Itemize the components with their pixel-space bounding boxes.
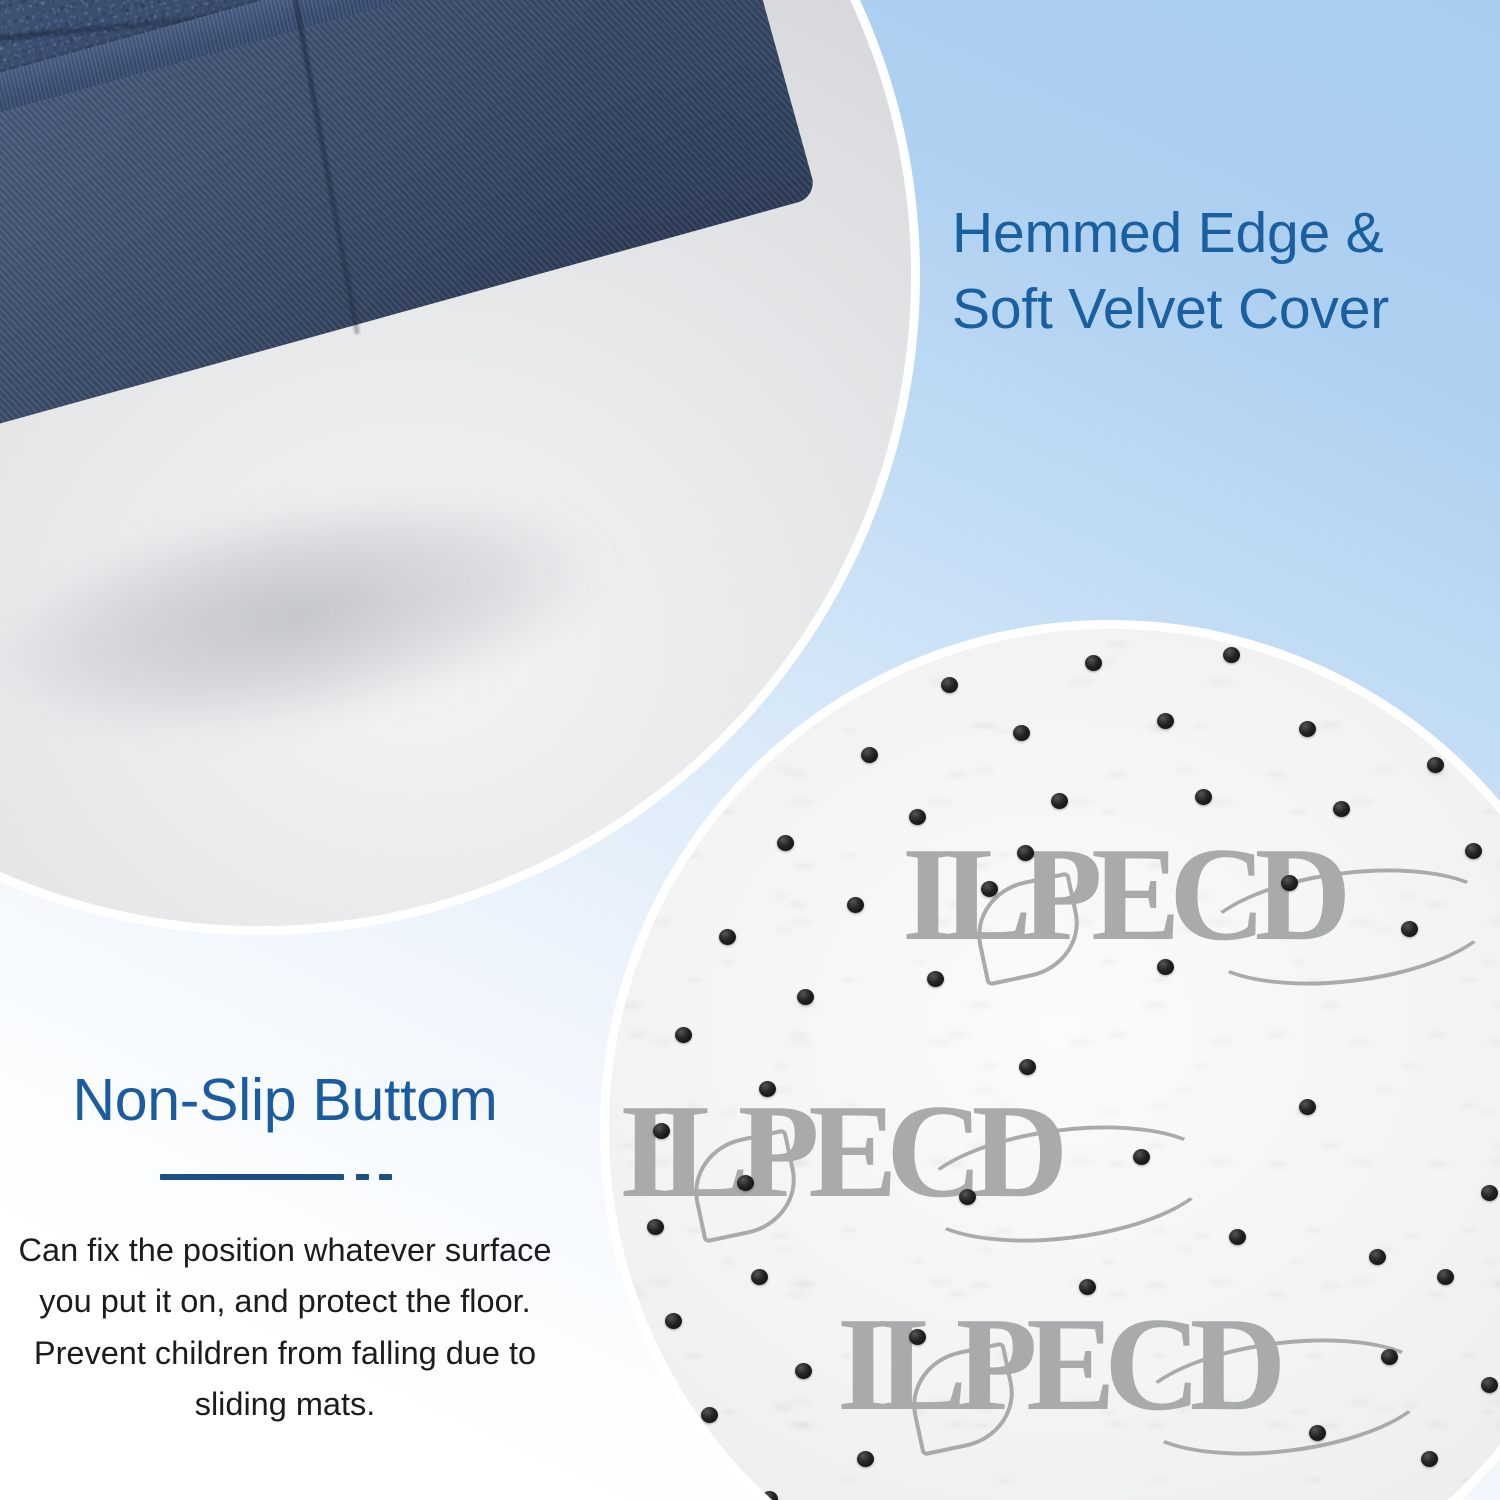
mat-grip-dot xyxy=(1051,793,1068,809)
mat-grip-dot xyxy=(1299,1099,1316,1115)
mat-grip-dot xyxy=(647,1219,664,1235)
mat-grip-dot xyxy=(1381,1349,1398,1365)
mat-grip-dot xyxy=(861,747,878,763)
mat-grip-dot xyxy=(1465,843,1482,859)
feature-title-non-slip: Non-Slip Buttom xyxy=(0,1068,570,1133)
feature-heading-velvet-line2: Soft Velvet Cover xyxy=(952,272,1492,348)
mat-grip-dot xyxy=(847,897,864,913)
mat-grip-dot xyxy=(1157,713,1174,729)
mat-grip-dot xyxy=(1427,757,1444,773)
title-divider xyxy=(160,1173,410,1181)
mat-grip-dot xyxy=(909,809,926,825)
mat-grip-dot xyxy=(761,1491,778,1500)
mat-grip-dot xyxy=(1085,655,1102,671)
feature-block-non-slip: Non-Slip Buttom Can fix the position wha… xyxy=(0,1068,570,1430)
mat-grip-dot xyxy=(1401,921,1418,937)
feature-heading-velvet: Hemmed Edge & Soft Velvet Cover xyxy=(952,196,1492,348)
mat-grip-dot xyxy=(1019,1059,1036,1075)
mat-grip-dot xyxy=(653,1123,670,1139)
divider-bar xyxy=(160,1174,344,1180)
mat-grip-dot xyxy=(1437,1269,1454,1285)
photo-non-slip-mat: ILPECD ILPECD ILPECD xyxy=(600,620,1500,1500)
mat-grip-dot xyxy=(1133,1149,1150,1165)
mat-grip-dot xyxy=(927,971,944,987)
mat-grip-dot xyxy=(1369,663,1386,679)
mat-grip-dot xyxy=(1299,721,1316,737)
mat-grip-dot xyxy=(1229,1229,1246,1245)
product-feature-poster: ILPECD ILPECD ILPECD Hemmed Edge & Soft … xyxy=(0,0,1500,1500)
mat-grip-dot xyxy=(759,1081,776,1097)
mat-grip-dot xyxy=(719,929,736,945)
mat-grip-dot xyxy=(701,1407,718,1423)
mat-grip-dot xyxy=(1195,789,1212,805)
mat-grip-dot xyxy=(1017,845,1034,861)
divider-dash-2 xyxy=(379,1174,392,1180)
mat-grip-dot xyxy=(777,835,794,851)
mat-grip-dot xyxy=(1281,875,1298,891)
mat-grip-dot xyxy=(751,1269,768,1285)
mat-grip-dot xyxy=(909,1329,926,1345)
mat-grip-dot xyxy=(1481,1377,1498,1393)
mat-grip-dot xyxy=(1369,1249,1386,1265)
feature-heading-velvet-line1: Hemmed Edge & xyxy=(952,196,1492,272)
mat-grip-dot xyxy=(941,677,958,693)
mat-grip-dot xyxy=(1309,1425,1326,1441)
mat-grip-dot xyxy=(1421,1451,1438,1467)
mat-grip-dot xyxy=(1079,1279,1096,1295)
feature-body-non-slip: Can fix the position whatever surface yo… xyxy=(15,1225,555,1430)
mat-grip-dot xyxy=(857,1451,874,1467)
mat-grip-dot xyxy=(675,1027,692,1043)
mat-grip-dot xyxy=(1481,1185,1498,1201)
mat-grip-dot xyxy=(1333,801,1350,817)
mat-grip-dot xyxy=(1157,959,1174,975)
mat-grip-dot xyxy=(959,1189,976,1205)
mat-grip-dot xyxy=(797,989,814,1005)
mat-grip-dots xyxy=(609,629,1500,1500)
mat-grip-dot xyxy=(981,881,998,897)
mat-grip-dot xyxy=(737,1175,754,1191)
mat-grip-dot xyxy=(1223,647,1240,663)
mat-grip-dot xyxy=(665,1313,682,1329)
mat-grip-dot xyxy=(1013,725,1030,741)
mat-grip-dot xyxy=(795,1363,812,1379)
mat-grip-dot xyxy=(1473,701,1490,717)
divider-dash-1 xyxy=(356,1174,369,1180)
